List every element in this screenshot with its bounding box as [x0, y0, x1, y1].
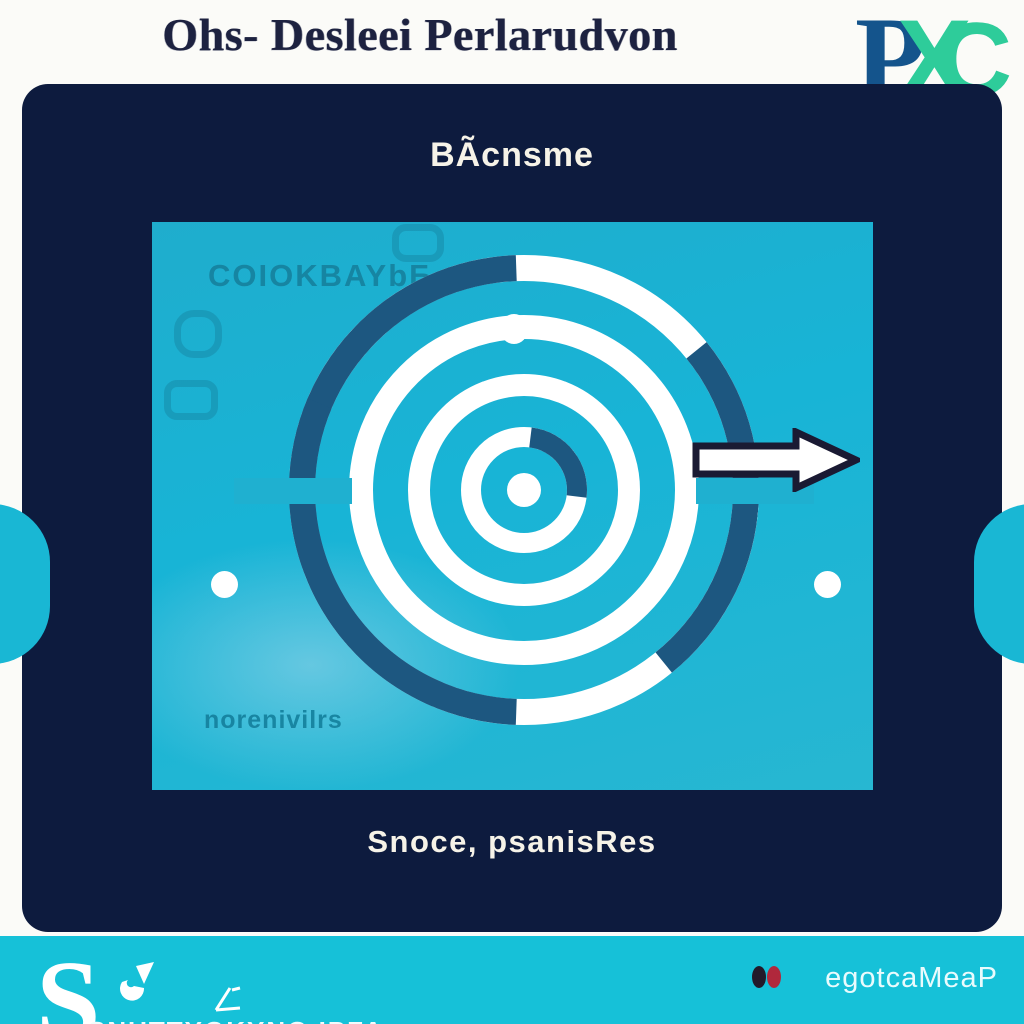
center-hub	[507, 473, 541, 507]
bottom-logo: S SNUTTYGKYNG IPFA	[36, 958, 266, 1024]
marker-dot-right	[814, 571, 841, 598]
poster-root: Ohs- Desleei Perlarudvon P X C BÃcnsme C…	[0, 0, 1024, 1024]
swoosh-icon	[114, 960, 170, 1008]
concentric-ring-chart	[234, 222, 814, 780]
page-title: Ohs- Desleei Perlarudvon	[0, 8, 840, 61]
ring-notch-left	[234, 478, 352, 504]
right-arrow-icon	[692, 428, 860, 492]
panel-heading: BÃcnsme	[22, 136, 1002, 175]
bottom-right-text: egotcaMeaP	[825, 962, 998, 995]
tick-icon	[214, 986, 246, 1012]
left-edge-tab[interactable]	[0, 504, 50, 664]
bottom-logo-letter-s: S	[36, 952, 101, 1024]
chart-canvas: COIOKBAYbБ norenivilrs	[152, 222, 873, 790]
panel-footnote: Snoce, psanisRes	[22, 824, 1002, 860]
decoration-pill-icon	[164, 380, 218, 420]
bottom-badge-icon	[750, 962, 784, 992]
decoration-ring-icon	[174, 310, 222, 358]
bottom-bar: S SNUTTYGKYNG IPFA egotcaMeaP	[0, 936, 1024, 1024]
bottom-logo-subtext: SNUTTYGKYNG IPFA	[88, 1016, 384, 1024]
right-edge-tab[interactable]	[974, 504, 1024, 664]
device-panel: BÃcnsme COIOKBAYbБ norenivilrs	[22, 84, 1002, 932]
